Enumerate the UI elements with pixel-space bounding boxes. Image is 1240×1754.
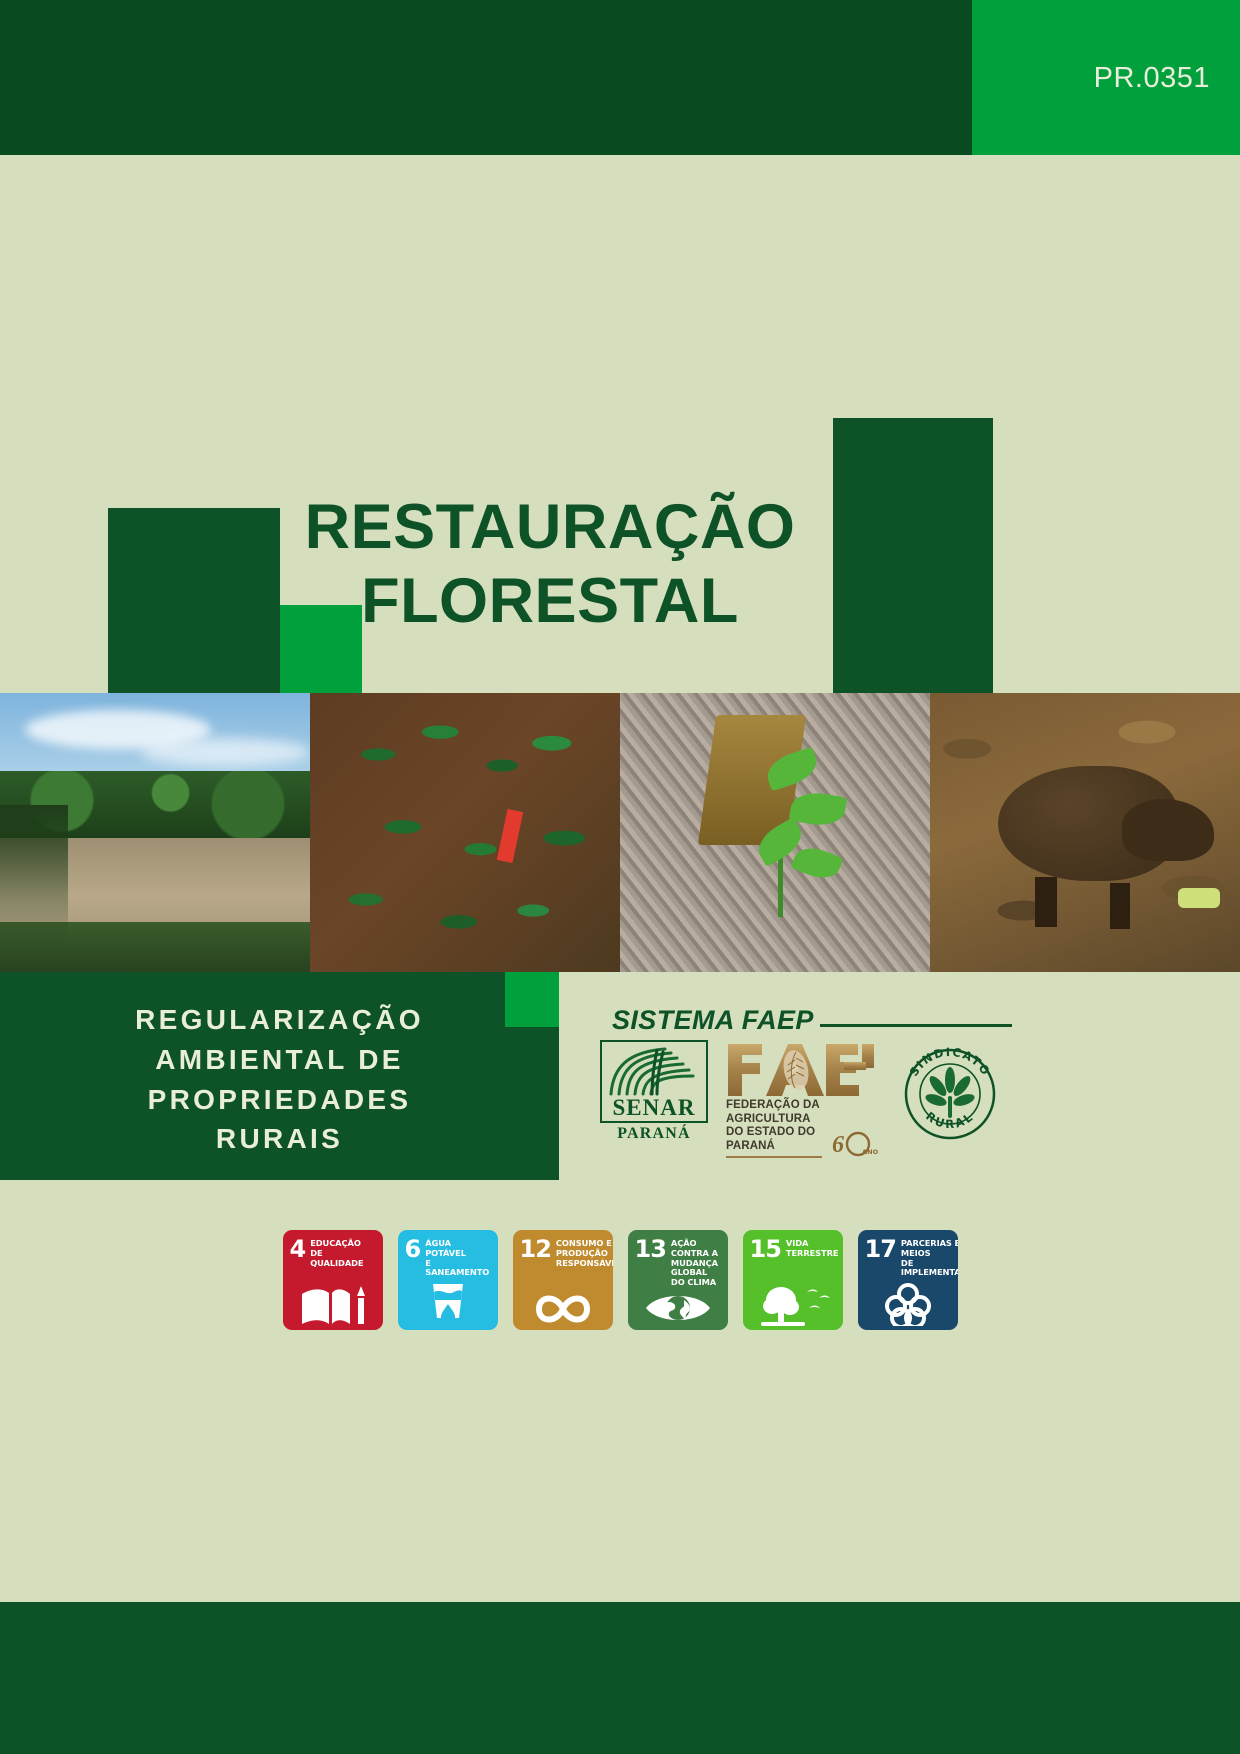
sdg-12-number: 12 — [520, 1239, 551, 1260]
photo-seedlings-ribbon — [310, 693, 620, 972]
sistema-faep-header: SISTEMA FAEP — [612, 1005, 1012, 1036]
title-line-2: FLORESTAL — [0, 564, 1100, 638]
sistema-faep-rule — [820, 1024, 1012, 1027]
title-line-1: RESTAURAÇÃO — [0, 490, 1100, 564]
sdg-goal-6: 6 ÁGUA POTÁVEL E SANEAMENTO — [398, 1230, 498, 1330]
interlocking-circles-icon — [858, 1280, 958, 1326]
open-book-pencil-icon — [283, 1280, 383, 1326]
subtitle-text: REGULARIZAÇÃO AMBIENTAL DE PROPRIEDADES … — [0, 1000, 559, 1159]
sdg-goal-12: 12 CONSUMO E PRODUÇÃO RESPONSÁVEIS — [513, 1230, 613, 1330]
subtitle-line-3: PROPRIEDADES — [0, 1080, 559, 1120]
sdg-4-number: 4 — [290, 1239, 306, 1260]
faep-subtitle-line-1: FEDERAÇÃO DA AGRICULTURA — [726, 1099, 878, 1126]
senar-name: SENAR — [605, 1096, 703, 1120]
sdg-17-number: 17 — [865, 1239, 896, 1260]
eye-globe-icon — [628, 1280, 728, 1326]
partner-logo-row: SENAR PARANÁ — [600, 1040, 1030, 1165]
sistema-faep-label: SISTEMA FAEP — [612, 1005, 814, 1036]
sdg-goal-4: 4 EDUCAÇÃO DE QUALIDADE — [283, 1230, 383, 1330]
svg-text:ANOS: ANOS — [862, 1148, 878, 1156]
sdg-4-title: EDUCAÇÃO DE QUALIDADE — [310, 1239, 375, 1268]
sdg-17-title: PARCERIAS E MEIOS DE IMPLEMENTAÇÃO — [901, 1239, 958, 1278]
sdg-6-title: ÁGUA POTÁVEL E SANEAMENTO — [425, 1239, 490, 1278]
sindicato-rural-logo: SINDICATO RURAL — [896, 1040, 1004, 1148]
sdg-goal-row: 4 EDUCAÇÃO DE QUALIDADE — [0, 1230, 1240, 1330]
photo-river-forest — [0, 693, 310, 972]
tree-birds-icon — [743, 1280, 843, 1326]
cover-page: PR.0351 RESTAURAÇÃO FLORESTAL REGULARIZ — [0, 0, 1240, 1754]
sdg-goal-15: 15 VIDA TERRESTRE — [743, 1230, 843, 1330]
subtitle-line-2: AMBIENTAL DE — [0, 1040, 559, 1080]
sdg-15-number: 15 — [750, 1239, 781, 1260]
photo-young-seedling — [620, 693, 930, 972]
subtitle-line-4: RURAIS — [0, 1119, 559, 1159]
senar-field-icon — [605, 1046, 703, 1096]
faep-wordmark-icon — [726, 1040, 878, 1096]
infinity-loop-icon — [513, 1280, 613, 1326]
sdg-goal-13: 13 AÇÃO CONTRA A MUDANÇA GLOBAL DO CLIMA — [628, 1230, 728, 1330]
sdg-13-number: 13 — [635, 1239, 666, 1260]
header-band-dark — [0, 0, 972, 155]
sdg-12-title: CONSUMO E PRODUÇÃO RESPONSÁVEIS — [556, 1239, 613, 1268]
faep-anniversary-badge: 6 ANOS — [832, 1128, 878, 1158]
document-code: PR.0351 — [1094, 62, 1210, 95]
senar-state: PARANÁ — [600, 1125, 708, 1143]
subtitle-line-1: REGULARIZAÇÃO — [0, 1000, 559, 1040]
sdg-goal-17: 17 PARCERIAS E MEIOS DE IMPLEMENTAÇÃO — [858, 1230, 958, 1330]
faep-subtitle: FEDERAÇÃO DA AGRICULTURA DO ESTADO DO PA… — [726, 1099, 878, 1158]
photo-agouti — [930, 693, 1240, 972]
water-glass-drop-icon — [398, 1280, 498, 1326]
footer-band — [0, 1602, 1240, 1754]
sdg-6-number: 6 — [405, 1239, 421, 1260]
svg-text:6: 6 — [832, 1132, 844, 1158]
faep-underline — [726, 1156, 822, 1158]
faep-subtitle-line-2: DO ESTADO DO PARANÁ — [726, 1126, 827, 1153]
sdg-15-title: VIDA TERRESTRE — [786, 1239, 839, 1259]
senar-logo: SENAR PARANÁ — [600, 1040, 708, 1143]
faep-logo: FEDERAÇÃO DA AGRICULTURA DO ESTADO DO PA… — [726, 1040, 878, 1158]
page-title: RESTAURAÇÃO FLORESTAL — [0, 490, 1100, 639]
cover-photo-strip — [0, 693, 1240, 972]
